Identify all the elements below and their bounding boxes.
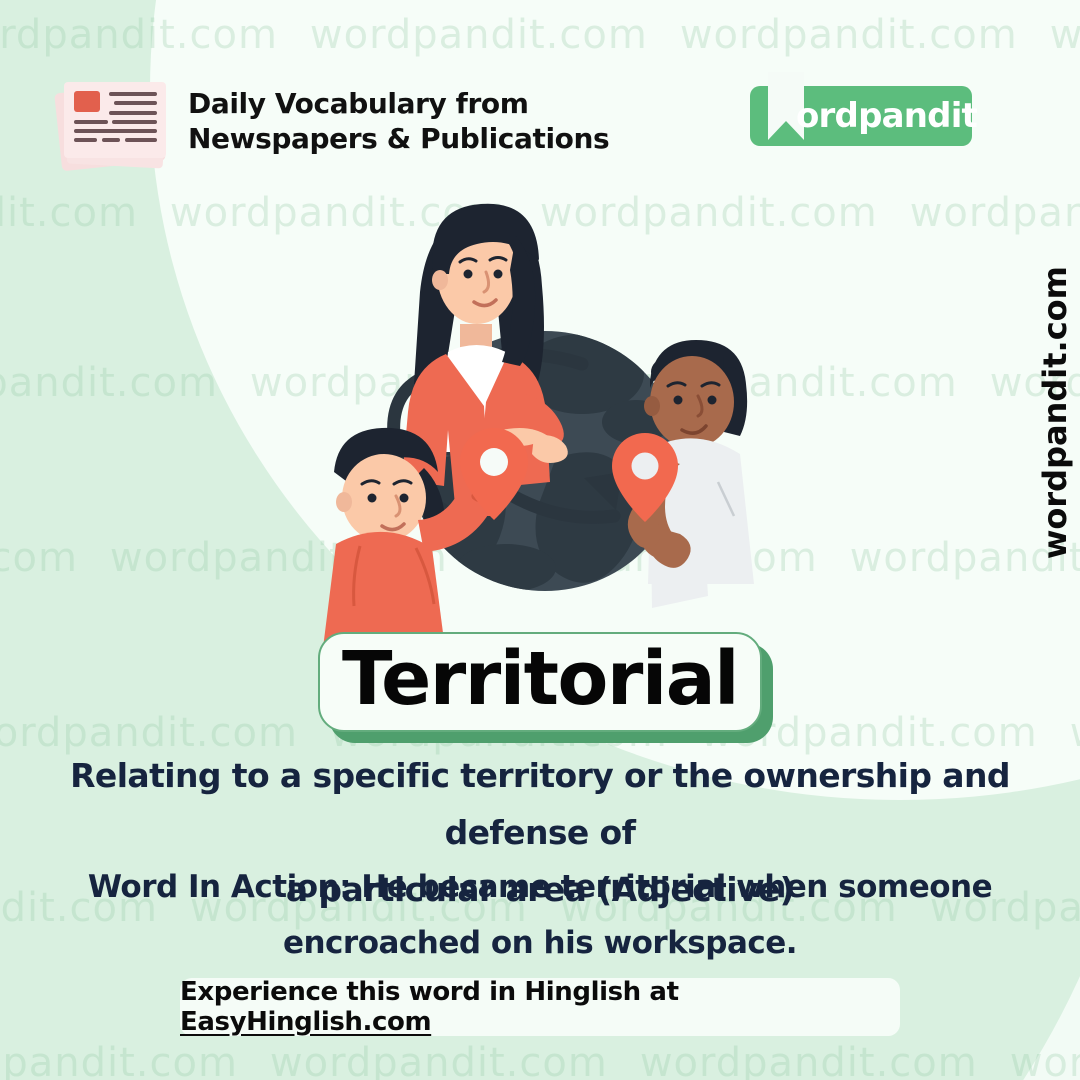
wordpandit-logo[interactable]: ordpandit [750,86,972,146]
hero-illustration [320,196,770,656]
word-card: Territorial [318,632,762,732]
footer-prefix: Experience this word in Hinglish at [180,977,679,1007]
poster-canvas: wordpandit.comwordpandit.comwordpandit.c… [0,0,1080,1080]
header: Daily Vocabulary from Newspapers & Publi… [52,66,609,174]
header-title-line1: Daily Vocabulary from [188,86,609,121]
definition-line-1: Relating to a specific territory or the … [0,748,1080,862]
side-brand-url: wordpandit.com [1036,266,1074,559]
example-line-2: encroached on his workspace. [0,916,1080,972]
footer-text: Experience this word in Hinglish at Easy… [180,977,900,1037]
easyhinglish-link[interactable]: EasyHinglish.com [180,1007,431,1037]
newspaper-icon [52,66,174,174]
vocabulary-word: Territorial [342,642,738,722]
footer-cta-bar[interactable]: Experience this word in Hinglish at Easy… [180,978,900,1036]
example-line-1: Word In Action: He became territorial wh… [0,860,1080,916]
word-in-action: Word In Action: He became territorial wh… [0,860,1080,972]
header-title-line2: Newspapers & Publications [188,121,609,156]
logo-label: ordpandit [796,96,977,136]
page-title: Daily Vocabulary from Newspapers & Publi… [188,66,609,156]
background-white-block [780,0,1080,560]
